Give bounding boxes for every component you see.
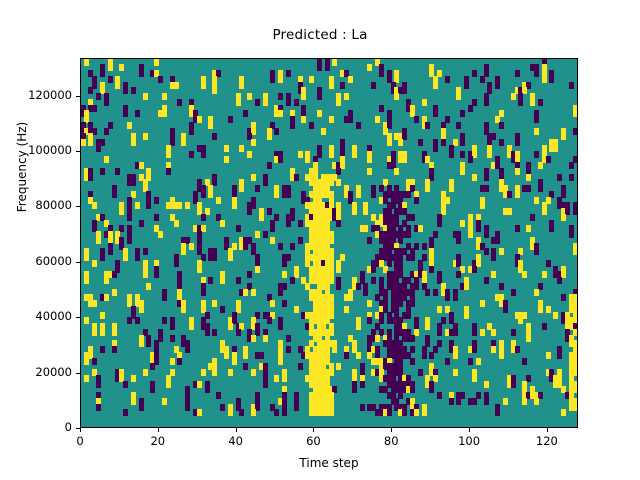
x-tick-label: 80 (351, 434, 431, 448)
x-tick-label: 120 (507, 434, 587, 448)
x-tick-mark (391, 428, 392, 432)
y-tick-mark (76, 206, 80, 207)
y-tick-label: 80000 (0, 198, 72, 212)
x-tick-mark (547, 428, 548, 432)
y-tick-mark (76, 151, 80, 152)
x-tick-label: 60 (273, 434, 353, 448)
x-axis-label: Time step (80, 456, 578, 470)
x-tick-label: 40 (196, 434, 276, 448)
x-tick-mark (80, 428, 81, 432)
x-tick-mark (158, 428, 159, 432)
y-tick-label: 40000 (0, 309, 72, 323)
x-tick-mark (236, 428, 237, 432)
matplotlib-figure: Predicted : La Frequency (Hz) 0204060801… (0, 0, 640, 480)
y-tick-mark (76, 96, 80, 97)
y-tick-label: 120000 (0, 88, 72, 102)
y-tick-label: 60000 (0, 254, 72, 268)
y-tick-mark (76, 373, 80, 374)
y-tick-label: 0 (0, 420, 72, 434)
y-tick-mark (76, 428, 80, 429)
page-title: Predicted : La (0, 27, 640, 43)
x-tick-mark (313, 428, 314, 432)
heatmap-image (81, 59, 577, 427)
y-tick-mark (76, 262, 80, 263)
x-tick-mark (469, 428, 470, 432)
y-tick-label: 100000 (0, 143, 72, 157)
x-tick-label: 20 (118, 434, 198, 448)
y-tick-label: 20000 (0, 365, 72, 379)
x-tick-label: 100 (429, 434, 509, 448)
y-tick-mark (76, 317, 80, 318)
heatmap-axes (80, 58, 578, 428)
x-tick-label: 0 (40, 434, 120, 448)
